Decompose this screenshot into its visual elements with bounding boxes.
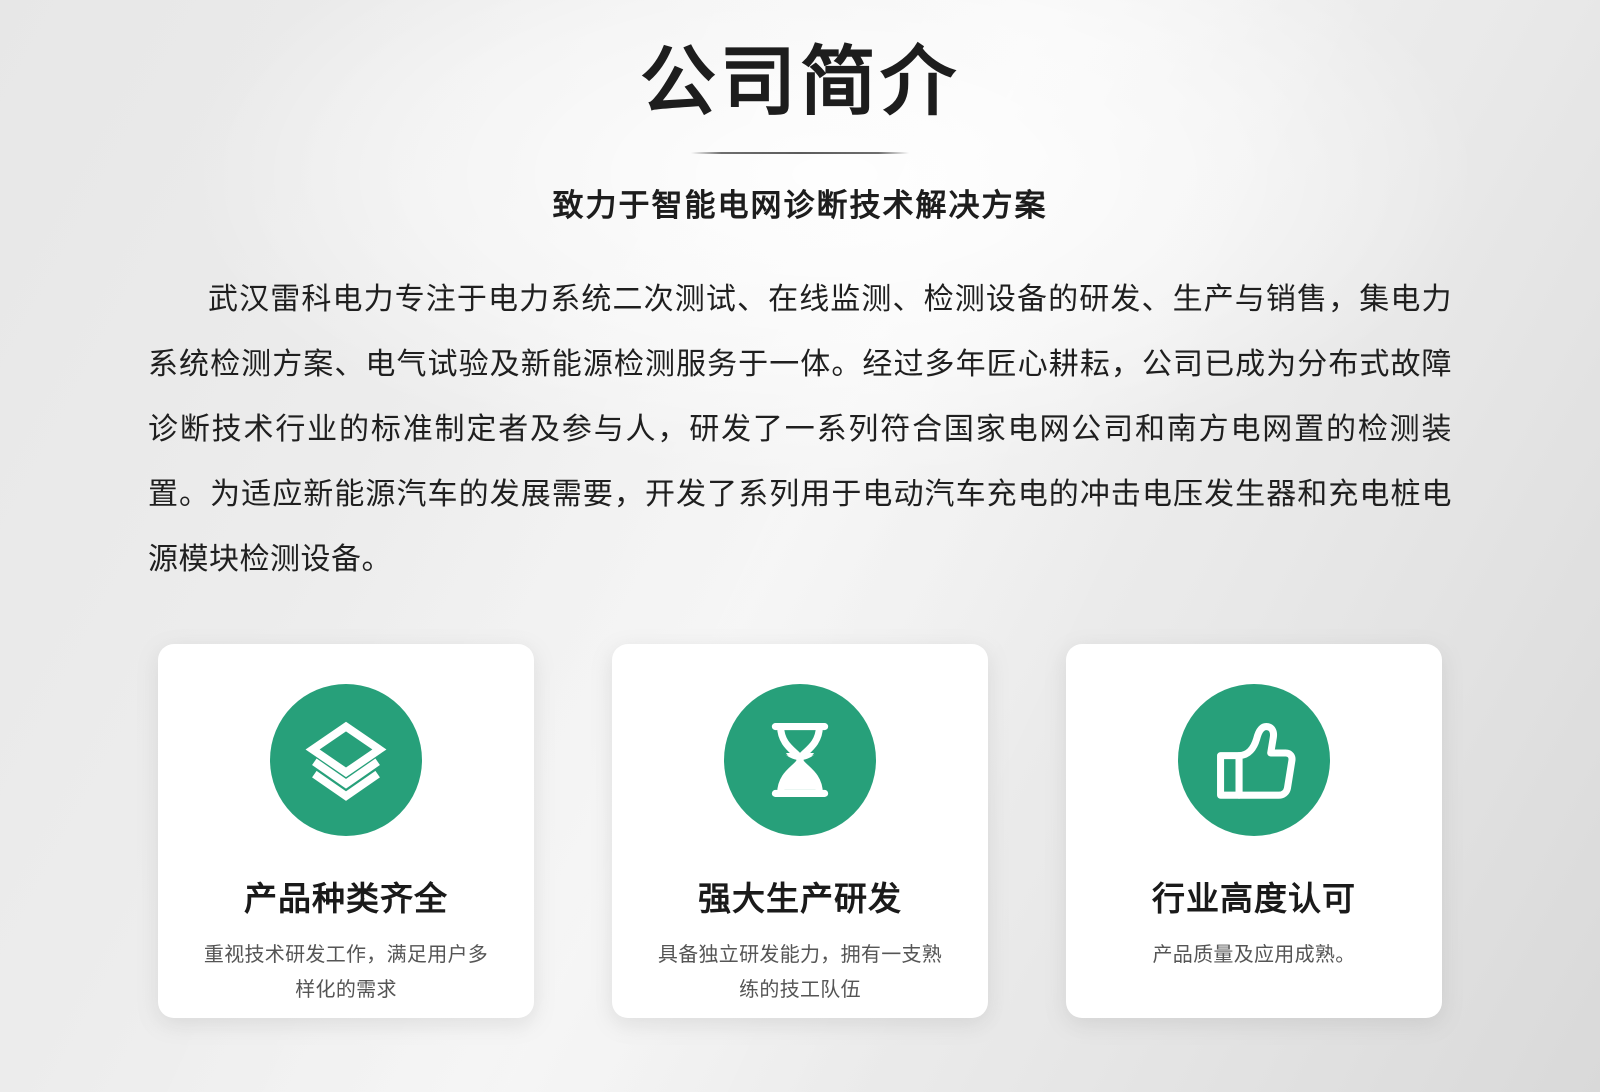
feature-card-industry-recognition[interactable]: 行业高度认可 产品质量及应用成熟。 — [1066, 644, 1442, 1018]
layers-icon — [270, 684, 422, 836]
title-divider — [691, 152, 909, 154]
feature-card-description: 重视技术研发工作，满足用户多样化的需求 — [196, 938, 496, 1008]
feature-card-description: 具备独立研发能力，拥有一支熟练的技工队伍 — [650, 938, 950, 1008]
intro-paragraph: 武汉雷科电力专注于电力系统二次测试、在线监测、检测设备的研发、生产与销售，集电力… — [148, 267, 1452, 592]
feature-card-title: 行业高度认可 — [1152, 872, 1356, 920]
hourglass-icon — [724, 684, 876, 836]
page-header: 公司简介 致力于智能电网诊断技术解决方案 — [0, 0, 1600, 225]
feature-card-list: 产品种类齐全 重视技术研发工作，满足用户多样化的需求 — [0, 644, 1600, 1018]
thumbs-up-icon — [1178, 684, 1330, 836]
feature-card-title: 产品种类齐全 — [244, 872, 448, 920]
company-intro-page: 公司简介 致力于智能电网诊断技术解决方案 武汉雷科电力专注于电力系统二次测试、在… — [0, 0, 1600, 1092]
page-title: 公司简介 — [0, 42, 1600, 124]
feature-card-product-range[interactable]: 产品种类齐全 重视技术研发工作，满足用户多样化的需求 — [158, 644, 534, 1018]
feature-card-description: 产品质量及应用成熟。 — [1104, 938, 1404, 973]
feature-card-rnd-capability[interactable]: 强大生产研发 具备独立研发能力，拥有一支熟练的技工队伍 — [612, 644, 988, 1018]
page-subtitle: 致力于智能电网诊断技术解决方案 — [0, 180, 1600, 225]
feature-card-title: 强大生产研发 — [698, 872, 902, 920]
